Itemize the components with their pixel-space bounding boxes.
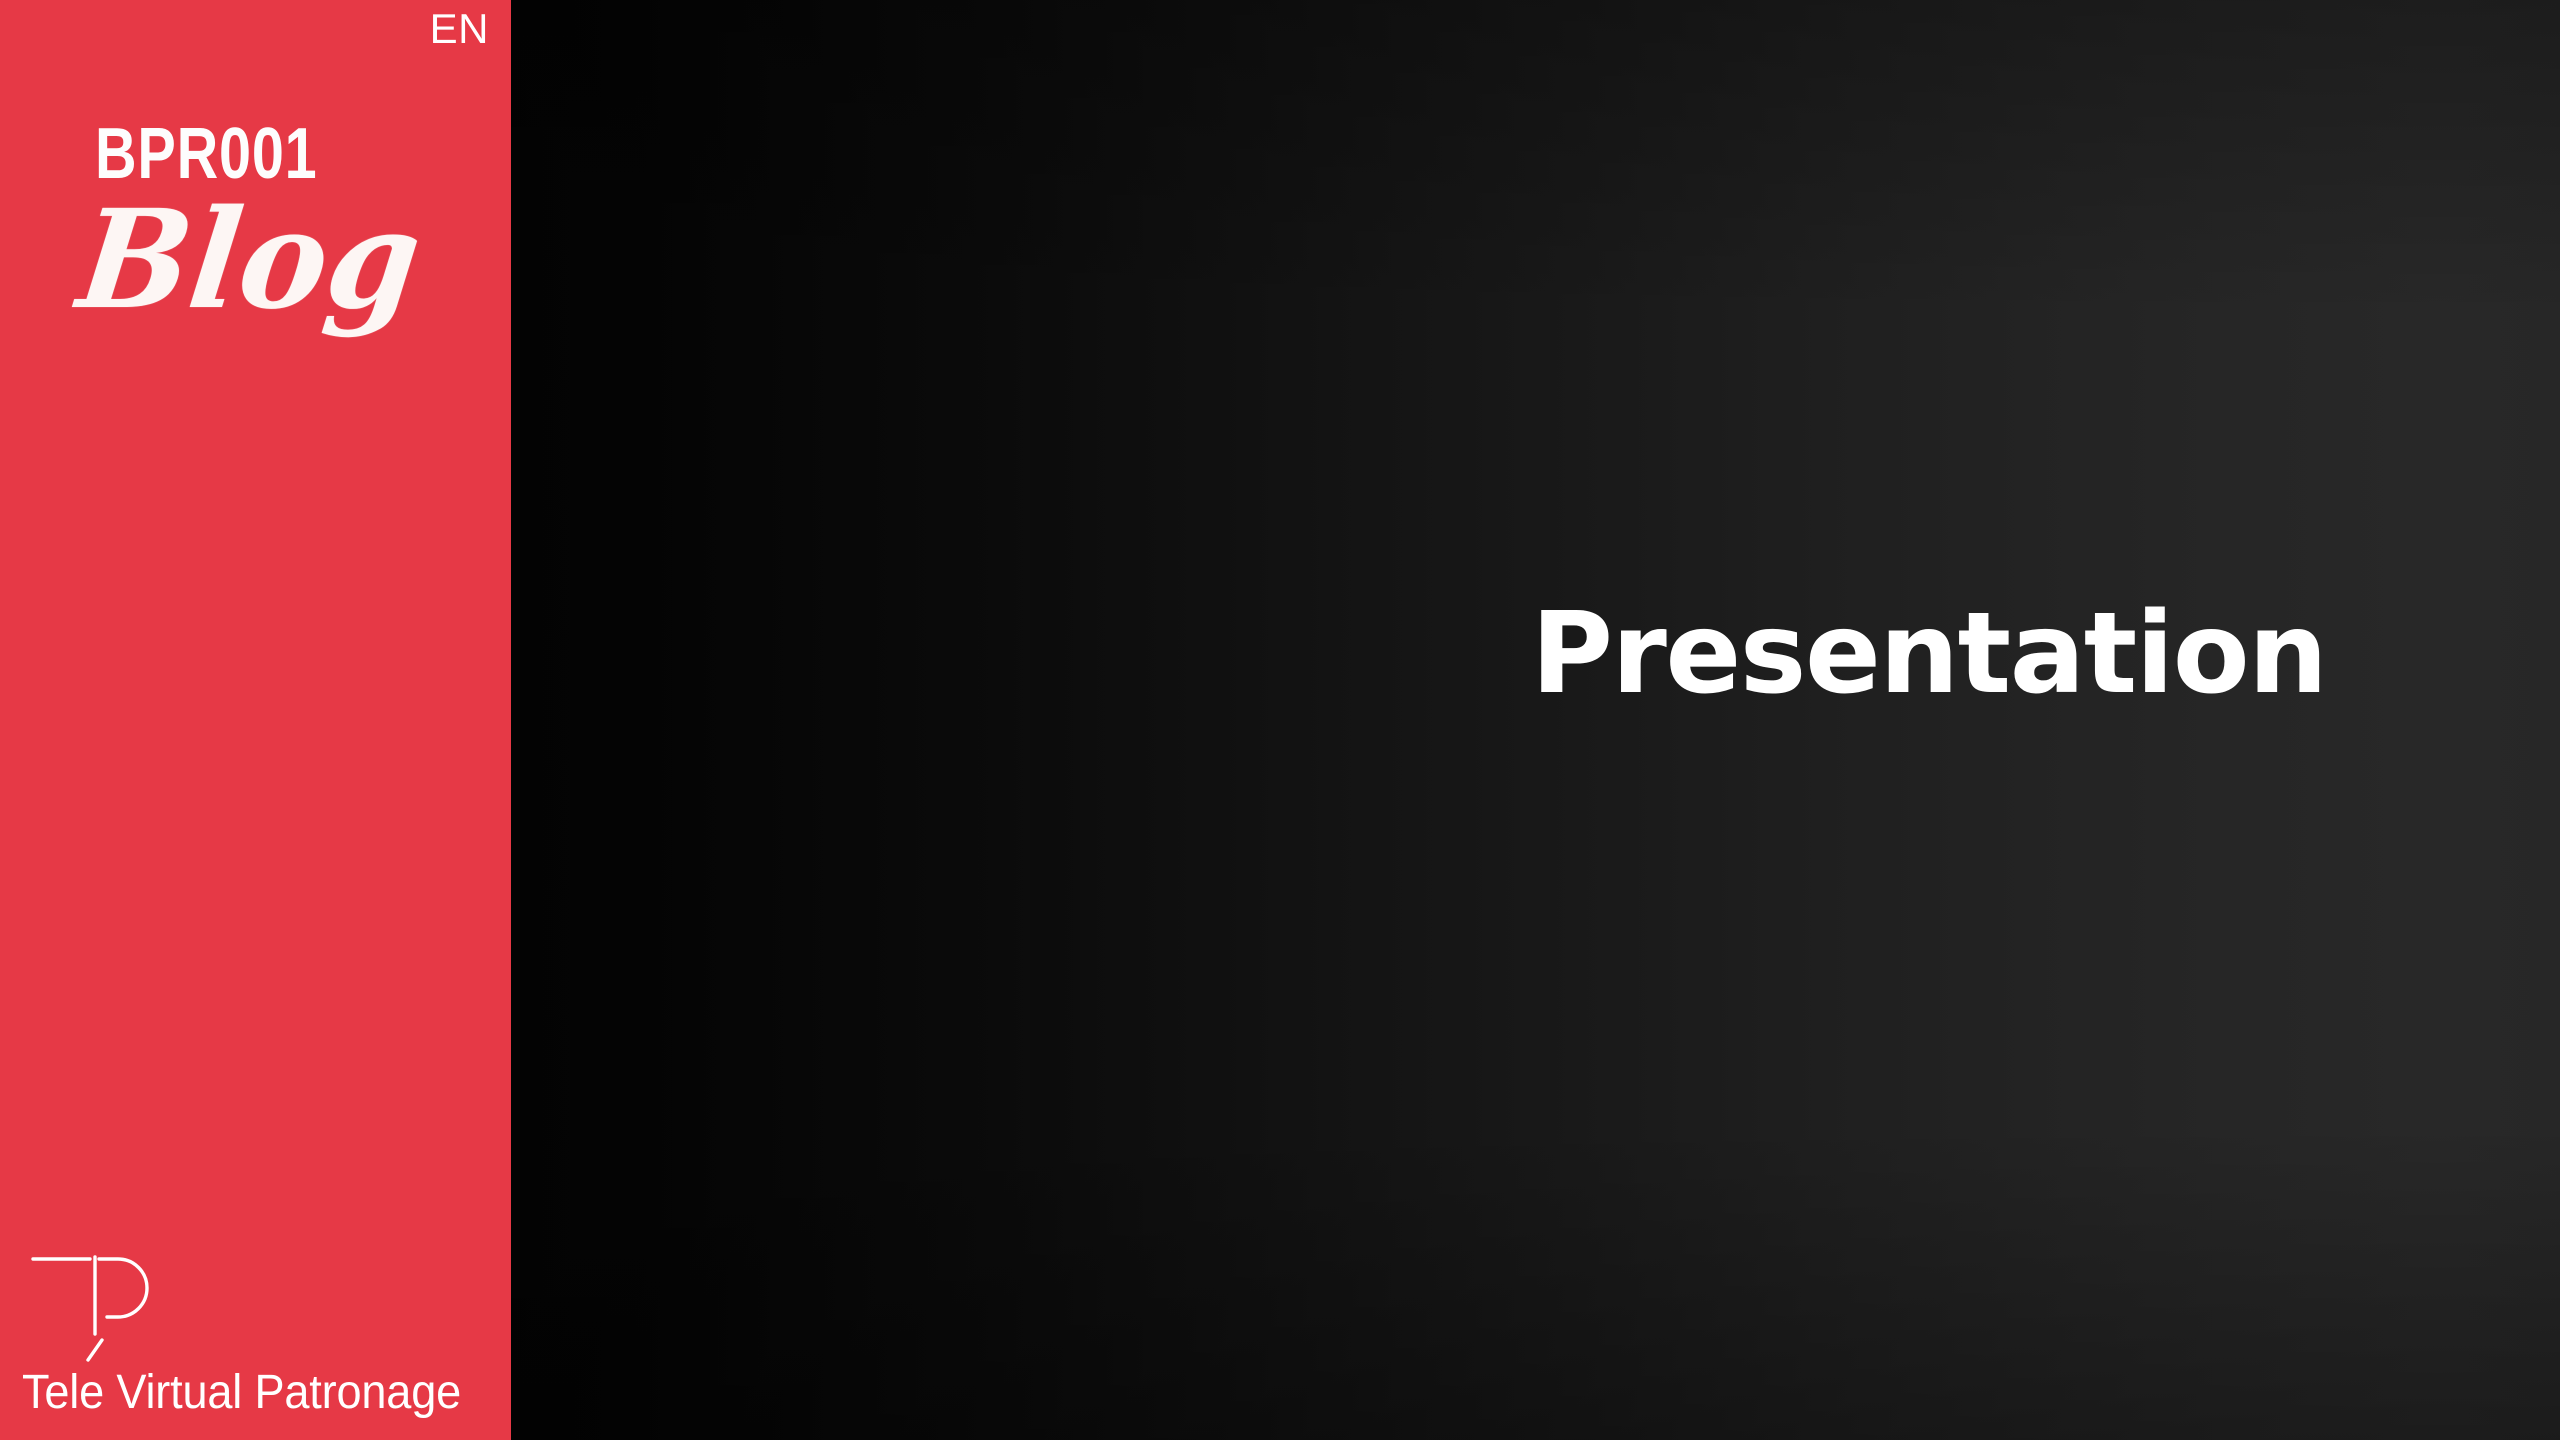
- slide-title: Presentation: [1531, 598, 2326, 710]
- brand-block: BPR001 Blog: [95, 118, 495, 328]
- presentation-slide: Presentation EN BPR001 Blog Te: [0, 0, 2560, 1440]
- tp-monogram-icon: [24, 1248, 174, 1366]
- brand-script-wordmark: Blog: [72, 192, 478, 328]
- brand-sidebar: EN BPR001 Blog Tele Virtual Patronage: [0, 0, 511, 1440]
- slide-main-canvas: Presentation: [511, 0, 2560, 1440]
- language-badge[interactable]: EN: [430, 8, 489, 50]
- footer-logo: Tele Virtual Patronage: [22, 1248, 492, 1418]
- organization-name: Tele Virtual Patronage: [22, 1368, 464, 1418]
